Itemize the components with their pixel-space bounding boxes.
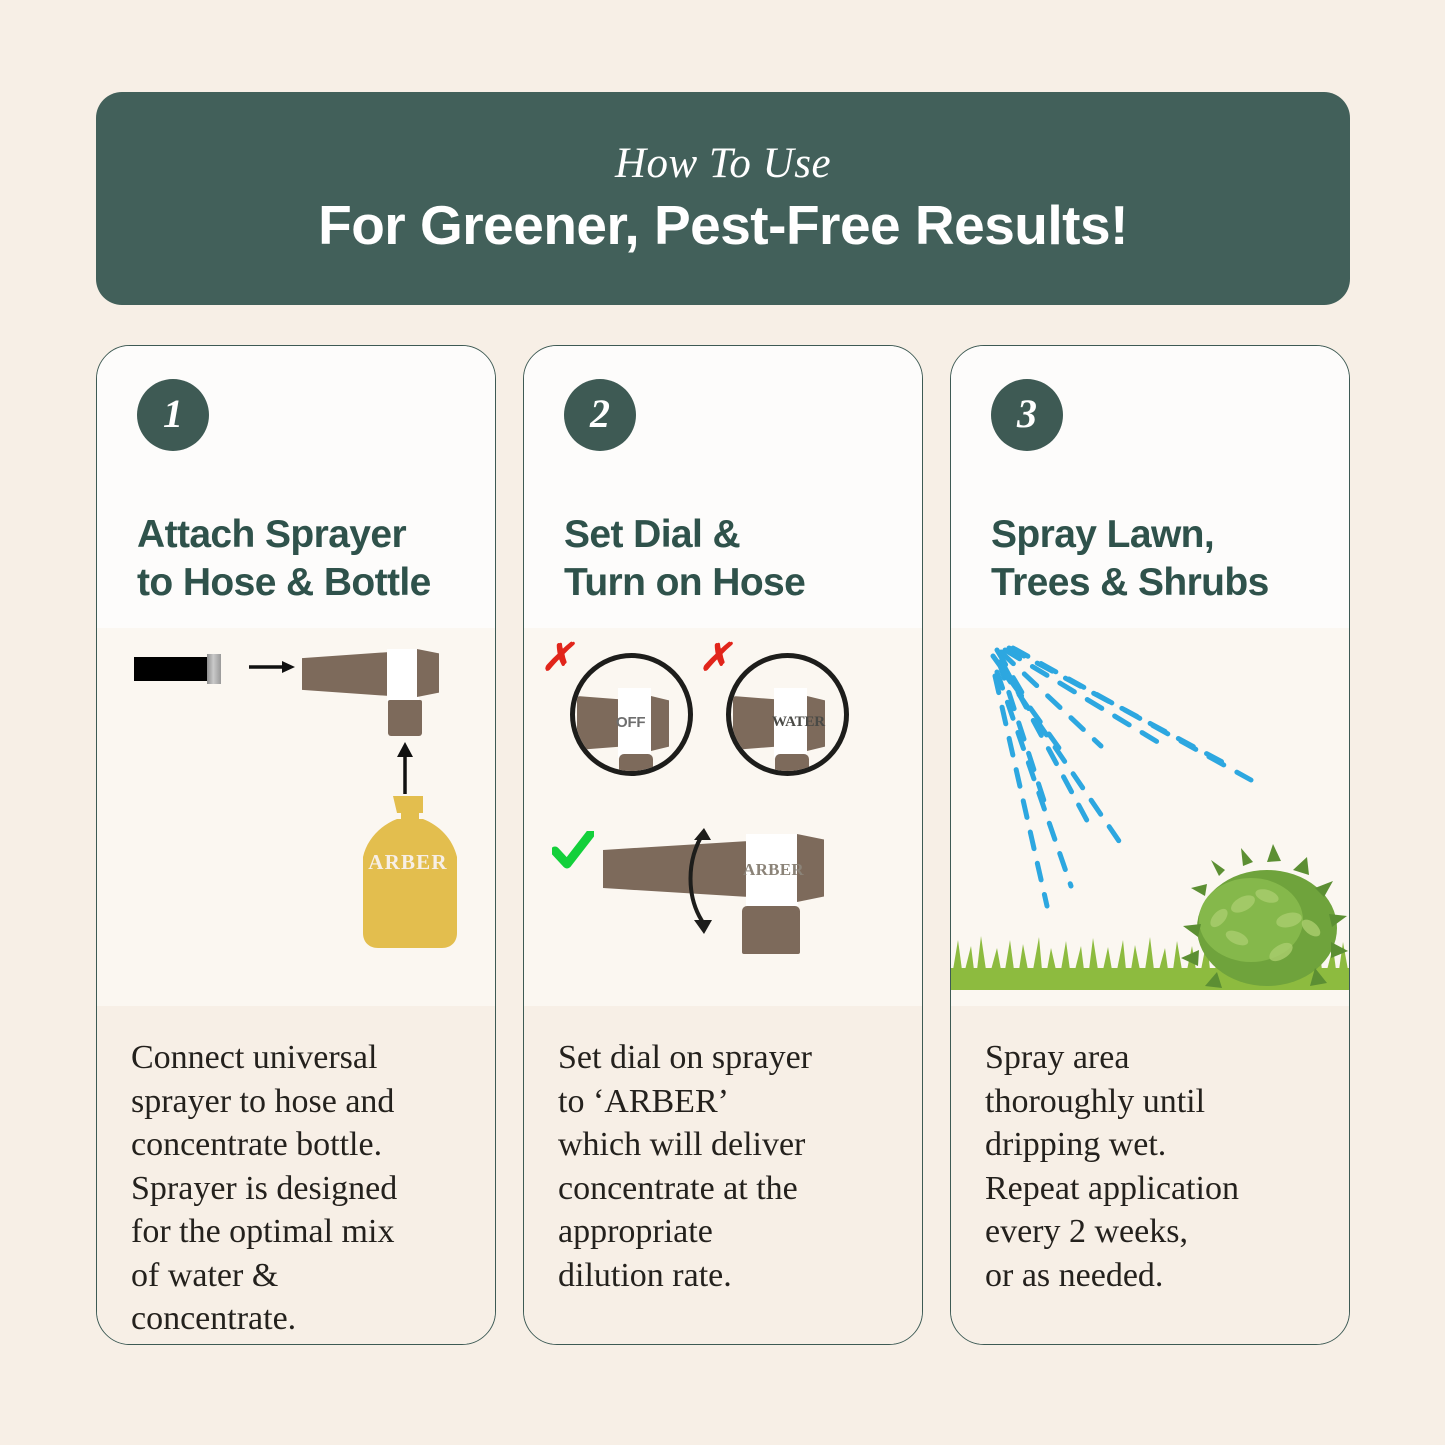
infographic-page: How To Use For Greener, Pest-Free Result… (0, 0, 1445, 1445)
step-description-2: Set dial on sprayer to ‘ARBER’ which wil… (558, 1036, 890, 1297)
arrow-up-icon (389, 740, 421, 794)
step-3-header: 3 Spray Lawn, Trees & Shrubs (951, 346, 1349, 628)
x-mark-icon-off: ✗ (541, 639, 573, 677)
step-1-body: Connect universal sprayer to hose and co… (97, 1006, 495, 1344)
step-card-2: 2 Set Dial & Turn on Hose ✗ OFF ✗ (523, 345, 923, 1345)
step-number-badge-3: 3 (991, 379, 1063, 451)
step-number-2: 2 (590, 394, 610, 434)
step-card-1: 1 Attach Sprayer to Hose & Bottle (96, 345, 496, 1345)
x-mark-icon-water: ✗ (699, 639, 731, 677)
step-card-3: 3 Spray Lawn, Trees & Shrubs (950, 345, 1350, 1345)
sprayer-neck-shape-large (742, 906, 800, 954)
step-number-badge-2: 2 (564, 379, 636, 451)
attach-sprayer-illustration: ARBER (97, 628, 495, 1006)
dial-closeup-off: OFF (570, 653, 693, 776)
spray-lawn-illustration (951, 628, 1349, 1006)
step-title-1: Attach Sprayer to Hose & Bottle (137, 511, 455, 606)
dial-neck-shape (619, 754, 653, 776)
rotate-dial-arrow-icon (684, 820, 736, 938)
header-eyebrow: How To Use (615, 142, 831, 185)
sprayer-body-shape (302, 652, 390, 696)
dial-neck-shape (775, 754, 809, 776)
dial-setting-label-off: OFF (616, 714, 645, 731)
step-3-body: Spray area thoroughly until dripping wet… (951, 1006, 1349, 1344)
dial-body-shape (577, 696, 619, 750)
step-description-1: Connect universal sprayer to hose and co… (131, 1036, 463, 1341)
step-number-3: 3 (1017, 394, 1037, 434)
step-1-header: 1 Attach Sprayer to Hose & Bottle (97, 346, 495, 628)
dial-setting-label-arber: ARBER (743, 860, 804, 880)
lawn-scene-graphic (951, 628, 1349, 1006)
dial-cap-shape (651, 696, 669, 751)
step-title-2: Set Dial & Turn on Hose (564, 511, 882, 606)
check-mark-icon (552, 831, 594, 873)
step-title-3: Spray Lawn, Trees & Shrubs (991, 511, 1309, 606)
sprayer-dial-cap (417, 649, 439, 697)
hose-icon (134, 657, 208, 681)
step-number-1: 1 (163, 394, 183, 434)
dial-settings-illustration: ✗ OFF ✗ WATER (524, 628, 922, 1006)
bottle-label: ARBER (355, 850, 461, 875)
arrow-right-icon (249, 656, 295, 678)
dial-setting-label-water: WATER (772, 714, 825, 731)
dial-closeup-water: WATER (726, 653, 849, 776)
step-2-body: Set dial on sprayer to ‘ARBER’ which wil… (524, 1006, 922, 1344)
step-number-badge-1: 1 (137, 379, 209, 451)
sprayer-neck-shape (388, 700, 422, 736)
hose-connector-icon (207, 654, 221, 684)
step-description-3: Spray area thoroughly until dripping wet… (985, 1036, 1317, 1297)
sprayer-dial-panel (387, 649, 419, 701)
dial-body-shape (733, 696, 775, 750)
header-title: For Greener, Pest-Free Results! (318, 197, 1128, 255)
steps-container: 1 Attach Sprayer to Hose & Bottle (96, 345, 1350, 1345)
spray-lines-icon (993, 648, 1251, 906)
step-2-header: 2 Set Dial & Turn on Hose (524, 346, 922, 628)
header-banner: How To Use For Greener, Pest-Free Result… (96, 92, 1350, 305)
